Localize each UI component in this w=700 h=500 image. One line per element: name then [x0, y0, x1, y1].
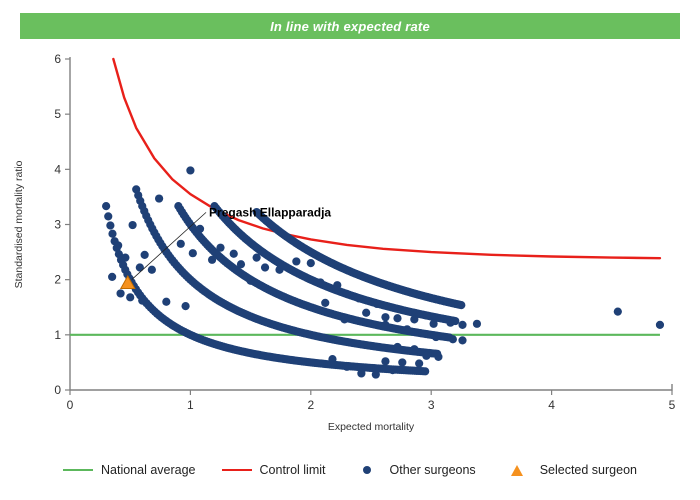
data-point	[129, 221, 137, 229]
x-tick-label: 4	[548, 398, 555, 412]
chart-legend: National averageControl limitOther surge…	[0, 455, 700, 485]
data-point	[162, 298, 170, 306]
data-point	[247, 277, 255, 285]
data-point	[106, 221, 114, 229]
data-point	[108, 230, 116, 238]
legend-item-other-surgeons[interactable]: Other surgeons	[352, 463, 476, 477]
x-tick-label: 3	[428, 398, 435, 412]
data-point	[389, 366, 397, 374]
legend-line-swatch	[63, 469, 93, 471]
y-tick-label: 2	[54, 273, 61, 287]
data-point	[381, 321, 389, 329]
x-axis-line	[70, 384, 672, 390]
data-point	[393, 314, 401, 322]
data-point	[189, 249, 197, 257]
data-point	[381, 357, 389, 365]
legend-item-control-limit[interactable]: Control limit	[222, 463, 326, 477]
x-tick-label: 1	[187, 398, 194, 412]
data-point	[104, 212, 112, 220]
data-point	[261, 263, 269, 271]
x-tick-label: 0	[67, 398, 74, 412]
y-axis-title: Standardised mortality ratio	[13, 160, 25, 288]
x-tick-label: 2	[307, 398, 314, 412]
y-tick-label: 5	[54, 107, 61, 121]
data-point	[155, 194, 163, 202]
data-point	[186, 166, 194, 174]
y-tick-label: 6	[54, 52, 61, 66]
y-tick-label: 3	[54, 218, 61, 232]
data-point	[121, 254, 129, 262]
data-point	[230, 250, 238, 258]
data-point	[321, 299, 329, 307]
legend-item-national-average[interactable]: National average	[63, 463, 196, 477]
status-banner: In line with expected rate	[20, 13, 680, 39]
data-point	[449, 335, 457, 343]
data-point	[458, 336, 466, 344]
data-point	[355, 294, 363, 302]
data-point	[316, 278, 324, 286]
chart-svg: 0123456012345Expected mortalityStandardi…	[0, 40, 700, 450]
data-point	[340, 315, 348, 323]
data-point	[102, 202, 110, 210]
data-point	[473, 320, 481, 328]
y-tick-label: 1	[54, 328, 61, 342]
data-point	[357, 369, 365, 377]
data-point	[422, 352, 430, 360]
data-point	[415, 359, 423, 367]
data-point	[177, 240, 185, 248]
legend-dot-icon	[363, 466, 371, 474]
data-point	[362, 309, 370, 317]
legend-label: National average	[101, 463, 196, 477]
legend-line-swatch	[222, 469, 252, 471]
data-point	[114, 241, 122, 249]
data-point	[148, 266, 156, 274]
data-point	[446, 319, 454, 327]
data-point	[458, 321, 466, 329]
data-point	[432, 333, 440, 341]
legend-item-selected-surgeon[interactable]: Selected surgeon	[502, 463, 637, 477]
data-point	[196, 225, 204, 233]
funnel-plot: 0123456012345Expected mortalityStandardi…	[0, 40, 700, 450]
data-point	[398, 358, 406, 366]
data-point	[403, 325, 411, 333]
data-point	[333, 281, 341, 289]
legend-label: Selected surgeon	[540, 463, 637, 477]
data-point	[126, 293, 134, 301]
data-point	[410, 315, 418, 323]
data-point	[430, 320, 438, 328]
data-point	[656, 321, 664, 329]
data-point	[343, 290, 351, 298]
y-tick-label: 4	[54, 162, 61, 176]
data-point	[292, 257, 300, 265]
data-point	[138, 297, 146, 305]
data-point	[136, 263, 144, 271]
data-point	[237, 260, 245, 268]
data-point	[373, 300, 381, 308]
annotation-leader-line	[132, 212, 206, 279]
data-point	[614, 308, 622, 316]
data-point	[410, 345, 418, 353]
x-tick-label: 5	[669, 398, 676, 412]
data-point	[253, 254, 261, 262]
data-point	[216, 244, 224, 252]
data-point	[141, 251, 149, 259]
annotation-label: Pregash Ellapparadja	[209, 205, 331, 219]
data-point	[307, 259, 315, 267]
legend-label: Other surgeons	[390, 463, 476, 477]
data-point	[381, 313, 389, 321]
y-tick-label: 0	[54, 383, 61, 397]
data-point	[434, 353, 442, 361]
data-point	[181, 302, 189, 310]
data-point	[393, 343, 401, 351]
legend-triangle-icon	[511, 465, 523, 476]
status-banner-label: In line with expected rate	[270, 19, 430, 34]
data-point	[422, 311, 430, 319]
data-point	[372, 370, 380, 378]
data-point	[116, 289, 124, 297]
data-point	[208, 256, 216, 264]
data-point	[343, 363, 351, 371]
data-point	[457, 301, 465, 309]
x-axis-title: Expected mortality	[328, 421, 415, 433]
data-point	[108, 273, 116, 281]
data-point	[275, 266, 283, 274]
legend-label: Control limit	[260, 463, 326, 477]
data-point	[421, 367, 429, 375]
data-point	[328, 355, 336, 363]
